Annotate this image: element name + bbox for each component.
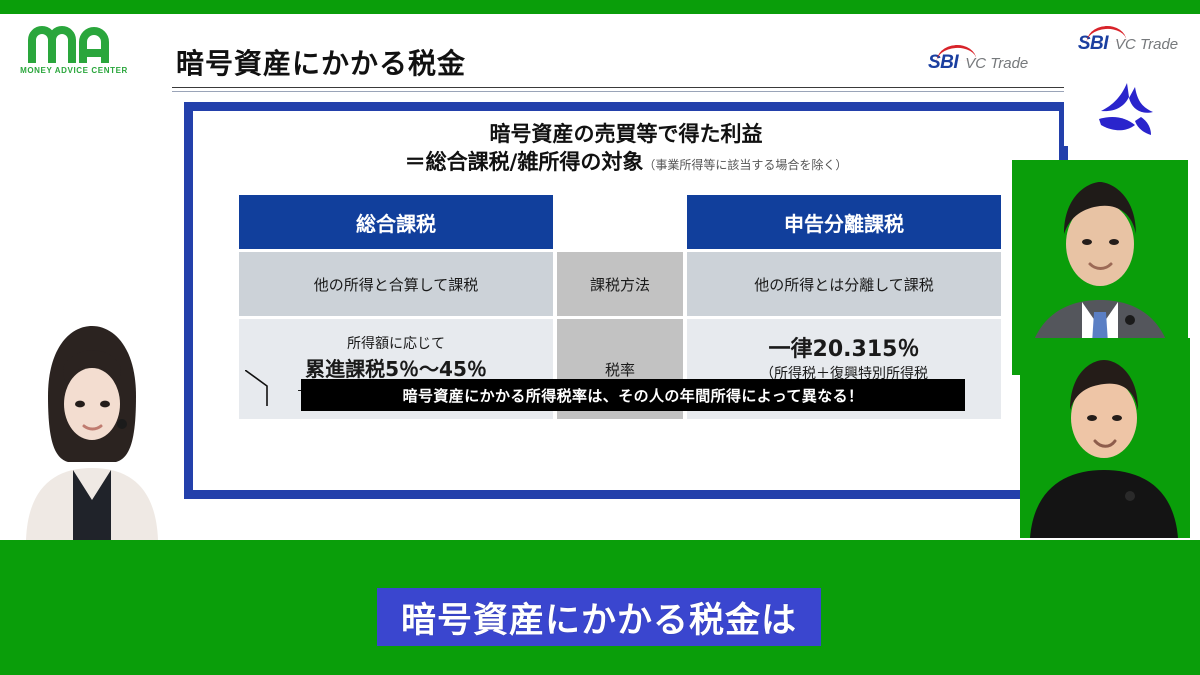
ma-wordmark: MONEY ADVICE CENTER — [20, 66, 128, 75]
header-cell-bunri: 申告分離課税 — [687, 195, 1001, 249]
header-cell-spacer — [557, 195, 683, 249]
sbi-vctrade-logo-right: SBI VC Trade — [1078, 33, 1178, 55]
ma-monogram-icon — [28, 26, 120, 64]
sbi-group-emblem-icon — [1091, 81, 1165, 139]
subtitle-caption: 暗号資産にかかる税金は — [377, 588, 821, 646]
row-method-right: 他の所得とは分離して課税 — [687, 252, 1001, 316]
table-header-row: 総合課税 申告分離課税 — [239, 195, 1007, 249]
page-title: 暗号資産にかかる税金 — [176, 42, 466, 82]
rate-left-line-1: 所得額に応じて — [296, 335, 496, 355]
money-advice-center-logo: MONEY ADVICE CENTER — [8, 14, 140, 86]
row-method-left: 他の所得と合算して課税 — [239, 252, 553, 316]
sbi-logo-icon: SBI — [928, 52, 958, 74]
content-frame: 暗号資産の売買等で得た利益 ＝総合課税/雑所得の対象（事業所得等に該当する場合を… — [184, 102, 1068, 499]
caption-text: 暗号資産にかかる税金は — [401, 592, 797, 643]
sbi-group-logo-card — [1064, 74, 1192, 146]
header-cell-sogo: 総合課税 — [239, 195, 553, 249]
lead-statement: 暗号資産の売買等で得た利益 ＝総合課税/雑所得の対象（事業所得等に該当する場合を… — [193, 121, 1059, 176]
callout-banner: 暗号資産にかかる所得税率は、その人の年間所得によって異なる！ — [301, 379, 965, 411]
lead-line-2: ＝総合課税/雑所得の対象（事業所得等に該当する場合を除く） — [193, 149, 1059, 177]
title-divider — [172, 87, 1080, 92]
table-row: 他の所得と合算して課税 課税方法 他の所得とは分離して課税 — [239, 252, 1007, 316]
lead-note: （事業所得等に該当する場合を除く） — [643, 158, 847, 172]
sbi-swoosh-icon — [1085, 25, 1126, 44]
row-method-label: 課税方法 — [557, 252, 683, 316]
sbi-vctrade-logo: SBI VC Trade — [928, 52, 1028, 74]
presenter-female-left — [18, 300, 166, 540]
sbi-vctrade-logo-card: SBI VC Trade — [1064, 20, 1192, 68]
sbi-swoosh-icon — [935, 44, 976, 63]
rate-right-line-1: 一律20.315％ — [760, 334, 928, 365]
presenter-male-lower — [1020, 338, 1190, 538]
leader-line-icon — [245, 370, 285, 406]
lead-line-2-text: ＝総合課税/雑所得の対象 — [405, 150, 644, 174]
lead-line-1: 暗号資産の売買等で得た利益 — [193, 121, 1059, 149]
broadcast-stage: 暗号資産にかかる税金 SBI VC Trade 暗号資産の売買等で得た利益 ＝総… — [0, 0, 1200, 675]
sbi-logo-icon: SBI — [1078, 33, 1108, 55]
